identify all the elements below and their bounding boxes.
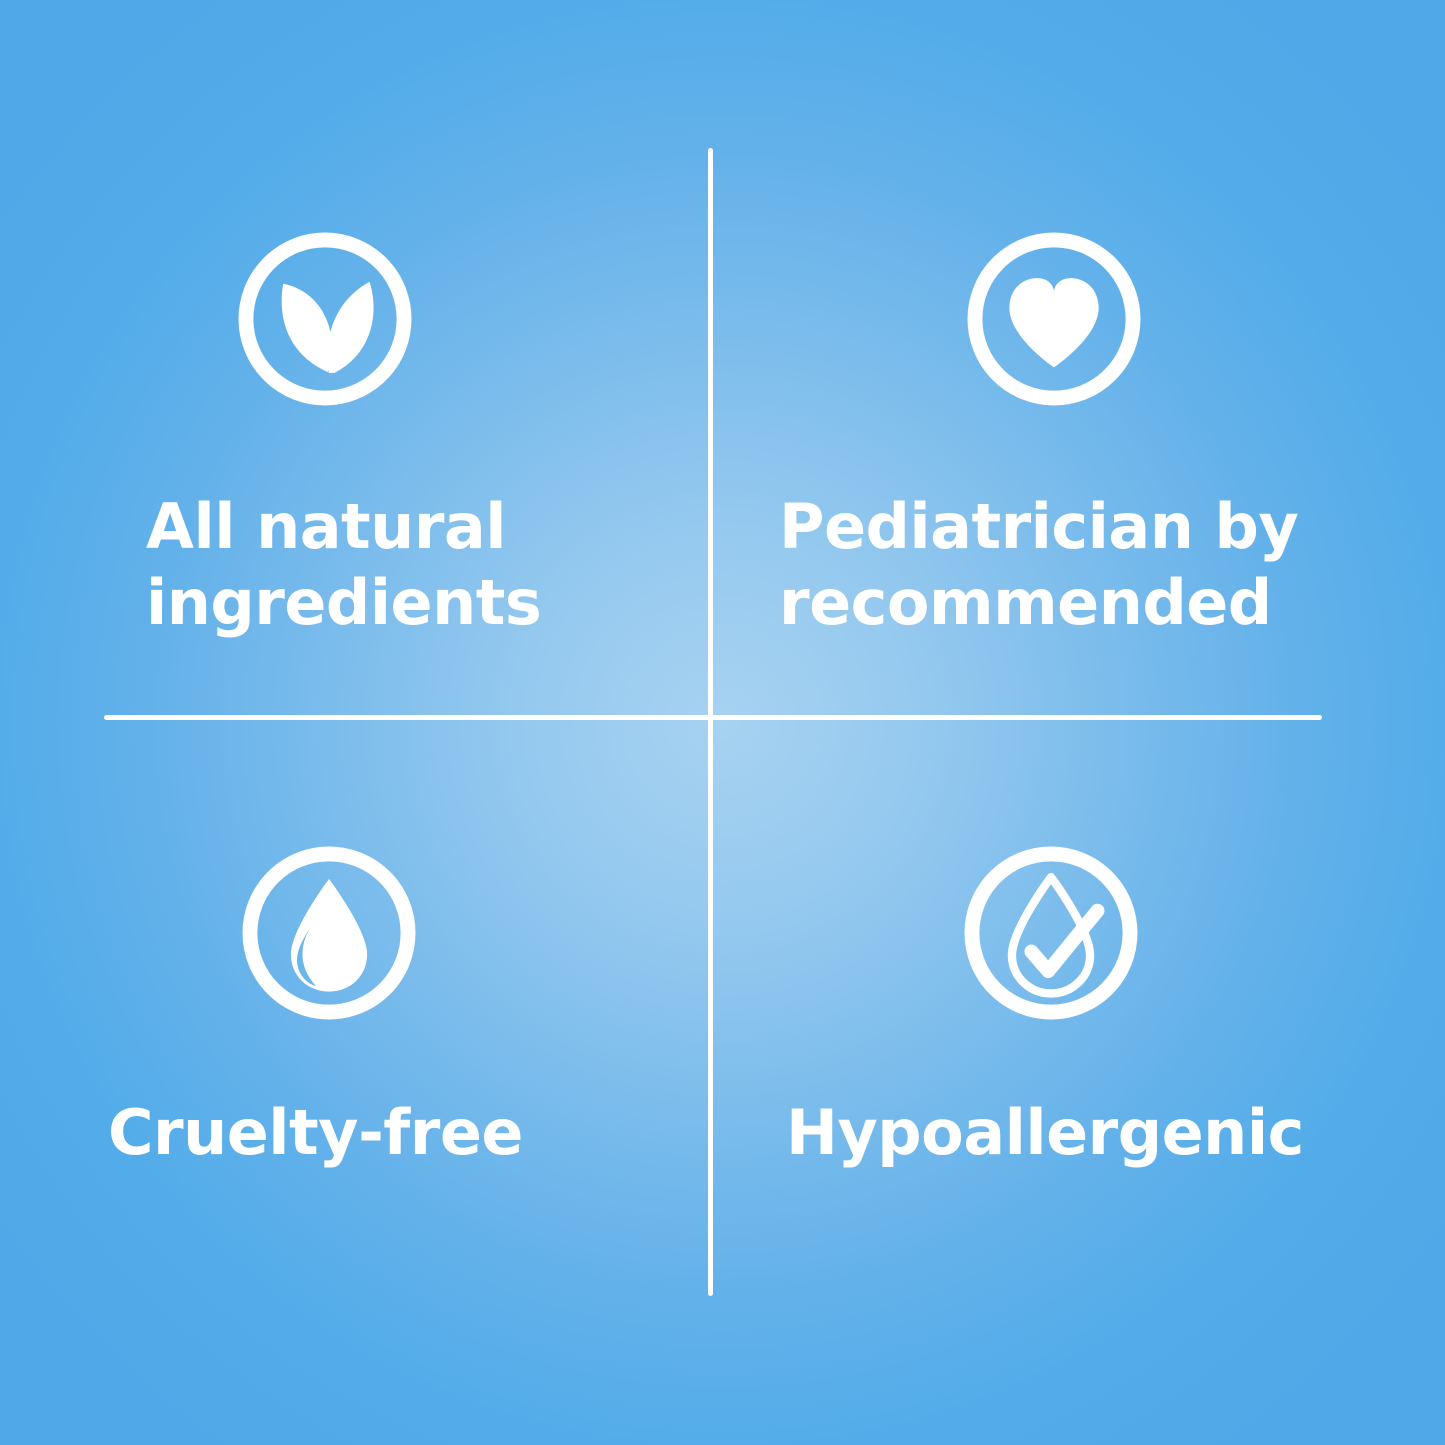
feature-label-hypoallergenic: Hypoallergenic	[786, 1095, 1304, 1171]
feature-card-cruelty-free: Cruelty-free	[104, 720, 708, 1296]
feature-grid-banner: All natural ingredients Pediatrician by …	[0, 0, 1445, 1445]
water-drop-check-circle-icon	[958, 840, 1144, 1026]
feature-label-pediatrician-recommended: Pediatrician by recommended	[779, 489, 1298, 640]
feature-label-cruelty-free: Cruelty-free	[108, 1095, 523, 1171]
heart-circle-icon	[961, 226, 1147, 412]
water-drop-circle-icon	[236, 840, 422, 1026]
feature-card-hypoallergenic: Hypoallergenic	[713, 720, 1322, 1296]
leaf-circle-icon	[232, 226, 418, 412]
feature-label-all-natural-ingredients: All natural ingredients	[146, 489, 541, 640]
feature-card-all-natural-ingredients: All natural ingredients	[104, 148, 708, 715]
feature-card-pediatrician-recommended: Pediatrician by recommended	[713, 148, 1322, 715]
